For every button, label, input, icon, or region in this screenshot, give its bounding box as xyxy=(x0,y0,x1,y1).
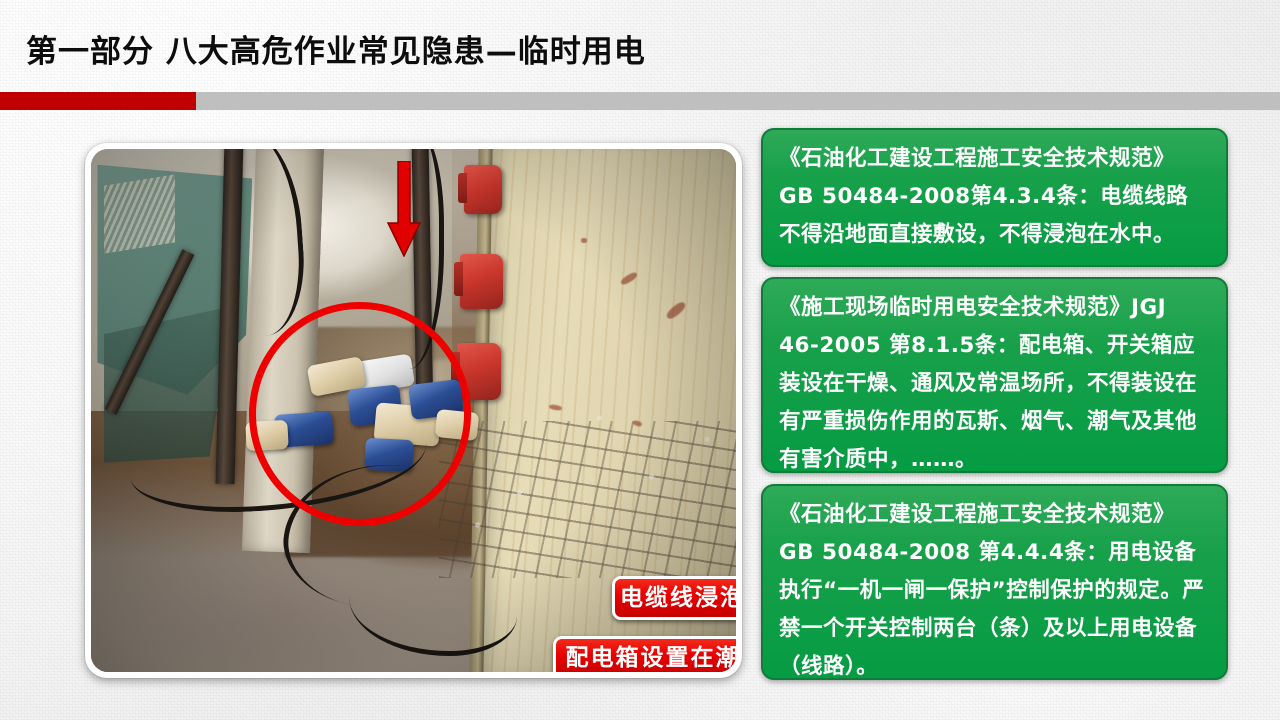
regulation-text: 《施工现场临时用电安全技术规范》JGJ 46-2005 第8.1.5条：配电箱、… xyxy=(779,289,1210,479)
title-divider-accent xyxy=(0,92,196,110)
photo-rust-mark xyxy=(581,238,587,243)
regulation-text: 《石油化工建设工程施工安全技术规范》GB 50484-2008第4.3.4条：电… xyxy=(779,140,1210,254)
regulation-box-2: 《施工现场临时用电安全技术规范》JGJ 46-2005 第8.1.5条：配电箱、… xyxy=(761,277,1228,473)
photo-wire xyxy=(465,264,523,379)
regulation-text: 《石油化工建设工程施工安全技术规范》GB 50484-2008 第4.4.4条：… xyxy=(779,496,1210,686)
regulation-box-3: 《石油化工建设工程施工安全技术规范》GB 50484-2008 第4.4.4条：… xyxy=(761,484,1228,680)
photo-card[interactable]: 电缆线浸泡在水中 配电箱设置在潮湿地面 临时用电使用一个三叉插头 xyxy=(85,143,742,678)
callout-cable-soaked: 电缆线浸泡在水中 xyxy=(612,576,736,620)
slide-canvas: 第一部分 八大高危作业常见隐患—临时用电 xyxy=(0,0,1280,720)
highlight-circle-icon xyxy=(249,302,471,526)
regulation-box-1: 《石油化工建设工程施工安全技术规范》GB 50484-2008第4.3.4条：电… xyxy=(761,128,1228,267)
title-divider xyxy=(0,92,1280,110)
site-photo: 电缆线浸泡在水中 配电箱设置在潮湿地面 临时用电使用一个三叉插头 xyxy=(91,149,736,672)
title-divider-bar xyxy=(196,92,1280,110)
callout-box-on-wet-ground: 配电箱设置在潮湿地面 xyxy=(553,636,736,672)
page-title: 第一部分 八大高危作业常见隐患—临时用电 xyxy=(26,26,646,71)
photo-socket-red xyxy=(464,165,503,215)
down-arrow-icon xyxy=(387,161,421,257)
